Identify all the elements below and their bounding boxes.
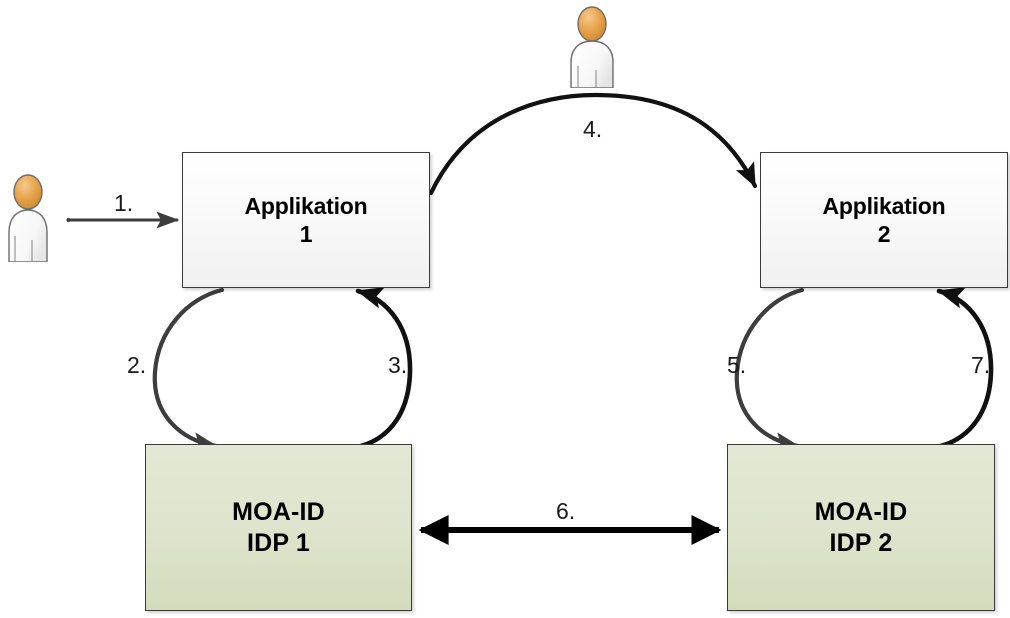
moa-id-idp-2-box[interactable]: MOA-ID IDP 2 <box>727 444 995 611</box>
user-actor-left <box>2 170 54 262</box>
applikation-2-label-line1: Applikation <box>822 192 945 220</box>
moa-id-idp-1-label-line2: IDP 1 <box>247 528 310 559</box>
step-4-label: 4. <box>583 116 602 143</box>
arrow-step-4 <box>431 95 755 193</box>
applikation-1-label-line1: Applikation <box>244 192 367 220</box>
step-7-label: 7. <box>971 352 990 379</box>
user-person-icon <box>2 170 54 262</box>
applikation-1-label-line2: 1 <box>300 220 313 248</box>
user-actor-top <box>563 4 621 88</box>
applikation-2-box[interactable]: Applikation 2 <box>760 152 1008 288</box>
moa-id-idp-1-box[interactable]: MOA-ID IDP 1 <box>145 444 412 611</box>
applikation-2-label-line2: 2 <box>878 220 891 248</box>
diagram-canvas: Applikation 1 Applikation 2 MOA-ID IDP 1… <box>0 0 1010 618</box>
step-5-label: 5. <box>727 352 746 379</box>
step-2-label: 2. <box>127 352 146 379</box>
step-3-label: 3. <box>388 352 407 379</box>
step-1-label: 1. <box>114 190 133 217</box>
arrow-step-5 <box>737 290 802 446</box>
step-6-label: 6. <box>556 498 575 525</box>
applikation-1-box[interactable]: Applikation 1 <box>182 152 430 288</box>
user-person-icon <box>563 4 621 88</box>
arrow-step-2 <box>155 290 222 446</box>
moa-id-idp-1-label-line1: MOA-ID <box>232 497 325 528</box>
moa-id-idp-2-label-line1: MOA-ID <box>815 497 908 528</box>
moa-id-idp-2-label-line2: IDP 2 <box>829 528 892 559</box>
arrow-step-1 <box>66 218 178 222</box>
